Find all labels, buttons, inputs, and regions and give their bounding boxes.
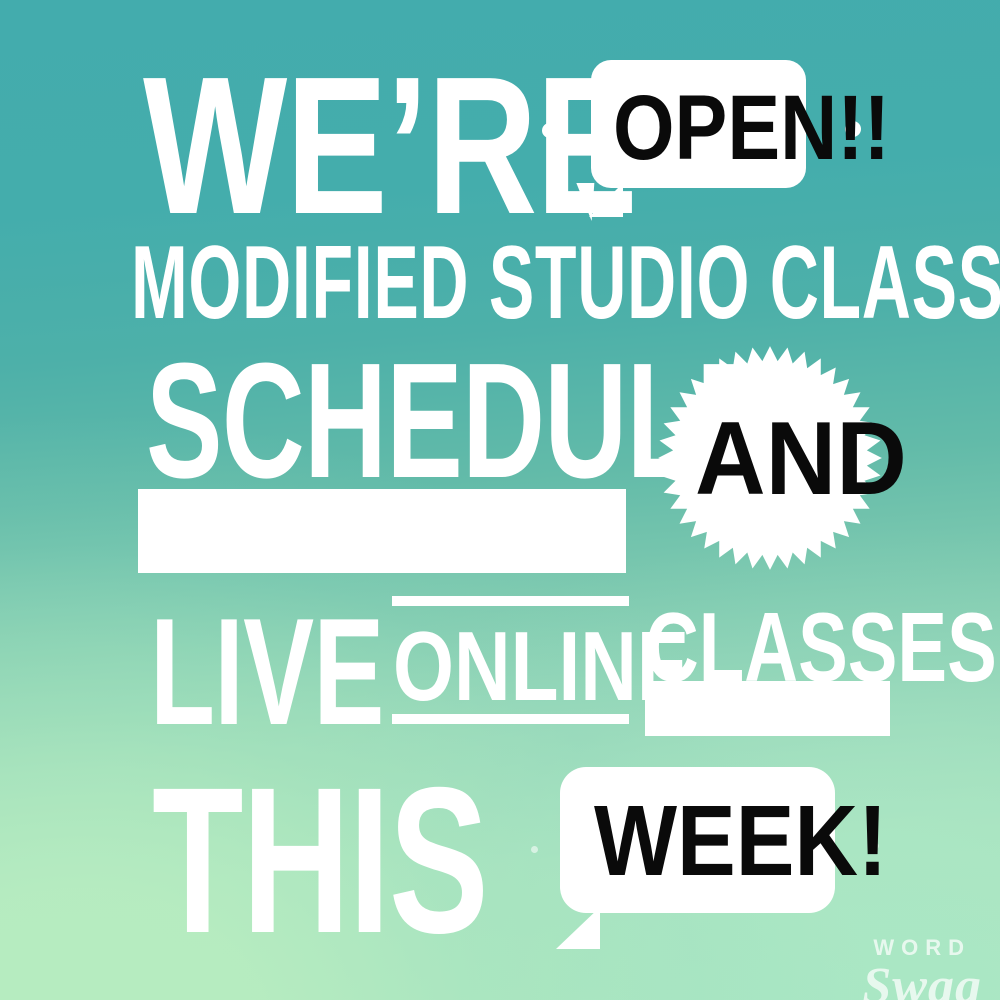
starburst-badge-and: AND <box>657 345 883 571</box>
watermark-line-word: WORD <box>862 935 982 961</box>
headline-were: WE’RE <box>143 48 636 244</box>
filler-bar-classes <box>645 681 890 736</box>
rule-above-online <box>392 596 629 606</box>
headline-modified-studio-class: MODIFIED STUDIO CLASS <box>131 231 1000 335</box>
poster-canvas: WE’RE OPEN!! MODIFIED STUDIO CLASS SCHED… <box>0 0 1000 1000</box>
rule-below-online <box>392 714 629 724</box>
headline-live: LIVE <box>150 596 384 748</box>
speech-bubble-open: OPEN!! <box>591 60 806 188</box>
watermark-line-swag: Swag <box>862 957 982 1000</box>
speech-bubble-open-label: OPEN!! <box>613 82 890 174</box>
headline-this: THIS <box>152 757 487 965</box>
watermark-wordswag: WORD Swag <box>862 935 982 1000</box>
decor-dot-week-left <box>531 846 538 853</box>
speech-bubble-week: WEEK! <box>560 767 835 913</box>
decor-dot-left <box>542 123 557 138</box>
starburst-badge-label: AND <box>695 407 907 511</box>
filler-bar-schedule <box>138 489 626 573</box>
speech-bubble-week-tail <box>556 907 600 949</box>
speech-bubble-week-label: WEEK! <box>594 791 887 891</box>
